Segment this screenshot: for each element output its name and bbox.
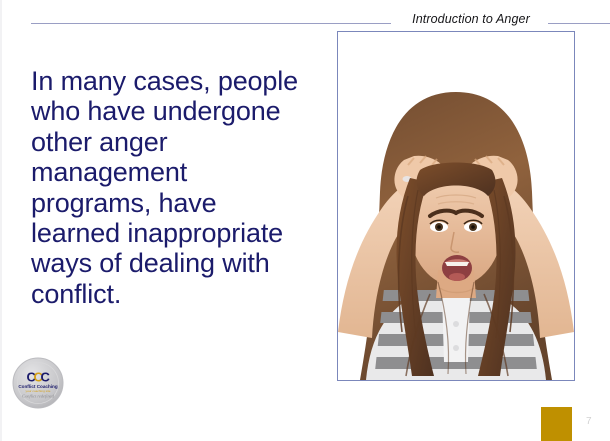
footer-accent-block [541, 407, 572, 441]
conflict-coaching-logo: C C C Conflict Coaching your coaching si… [10, 355, 66, 411]
slide-canvas: Introduction to Anger In many cases, peo… [0, 0, 610, 441]
header-rule-left [31, 23, 391, 24]
svg-text:C: C [41, 370, 51, 385]
page-number: 7 [586, 416, 602, 427]
header-rule-right [548, 23, 610, 24]
slide-body-text: In many cases, people who have undergone… [31, 66, 306, 309]
slide-photo [337, 31, 575, 381]
slide-left-edge [0, 0, 2, 441]
photo-illustration [338, 32, 574, 380]
svg-text:Conflict redefined: Conflict redefined [22, 394, 54, 399]
header-title: Introduction to Anger [396, 12, 546, 26]
